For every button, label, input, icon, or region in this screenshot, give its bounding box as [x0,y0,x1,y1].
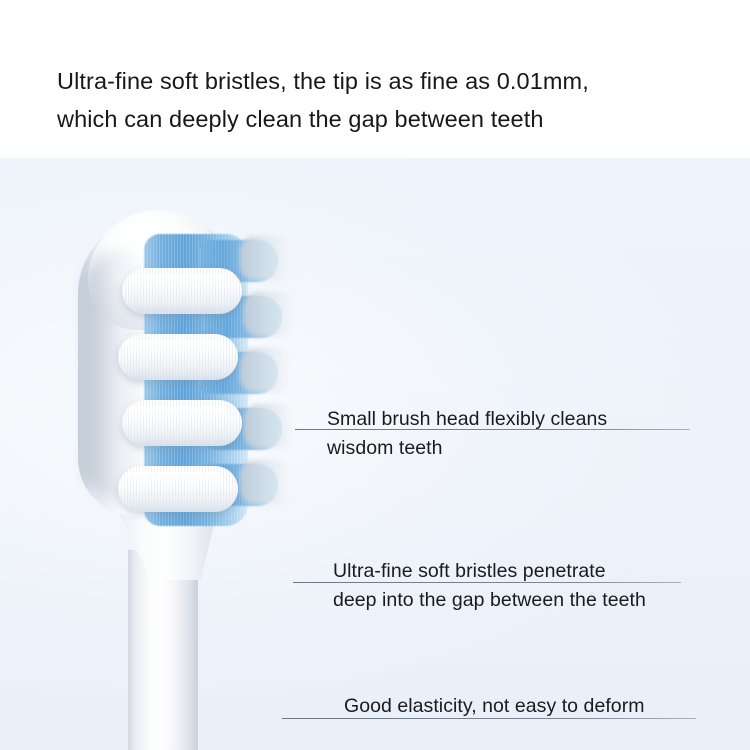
white-bristle-tuft [118,334,238,380]
bristle-fringe [240,460,292,504]
callout-label: Small brush head flexibly cleans wisdom … [327,405,727,463]
bristle-fringe [244,292,296,336]
bristle-field [144,234,294,526]
callout-label: Good elasticity, not easy to deform [344,692,744,721]
header-description-text: Ultra-fine soft bristles, the tip is as … [57,62,717,138]
header-band: Ultra-fine soft bristles, the tip is as … [0,0,750,158]
toothbrush-handle [128,550,198,750]
white-bristle-tuft [122,400,242,446]
bristle-fringe [244,404,296,448]
product-infographic: Ultra-fine soft bristles, the tip is as … [0,0,750,750]
toothbrush-head-image [60,158,360,750]
bristle-fringe [240,236,292,280]
callout-label: Ultra-fine soft bristles penetrate deep … [333,557,750,615]
white-bristle-tuft [118,466,238,512]
bristle-fringe [240,348,292,392]
product-stage: Small brush head flexibly cleans wisdom … [0,158,750,750]
white-bristle-tuft [122,268,242,314]
